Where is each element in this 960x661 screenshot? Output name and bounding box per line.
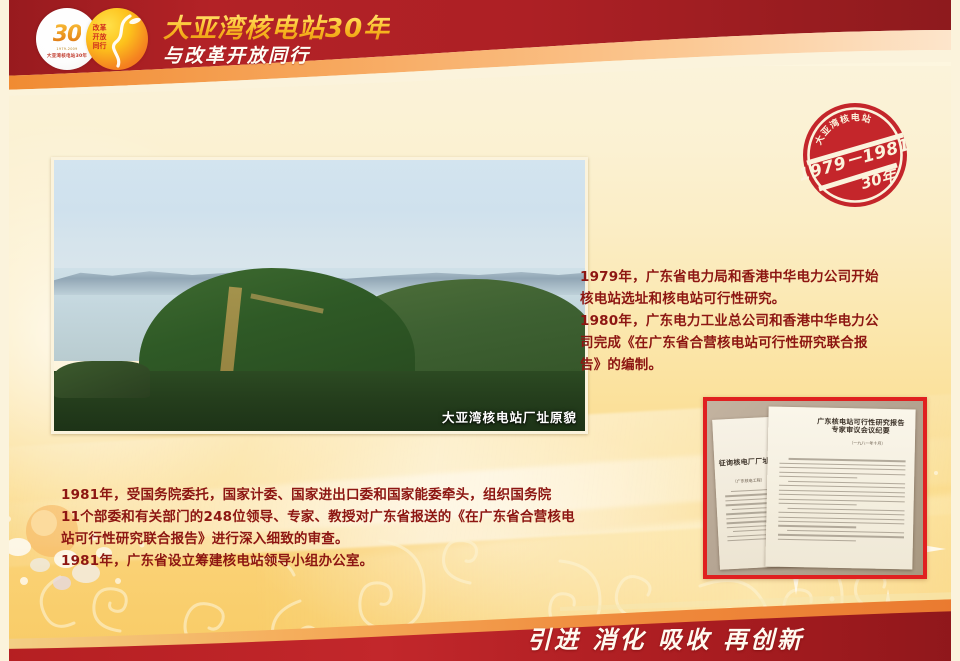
paragraph-1981: 1981年，受国务院委托，国家计委、国家进出口委和国家能委牵头，组织国务院 11… xyxy=(61,484,681,572)
logo-reform-text: 改革 开放 同行 xyxy=(92,24,107,51)
header-logos: 30 1979-2009 大亚湾核电站30年 改革 开放 同行 xyxy=(36,6,166,72)
anniversary-seal: 大亚湾核电站 1979－1981 30年 xyxy=(801,101,909,209)
footer-slogan: 引进 消化 吸收 再创新 xyxy=(527,620,804,655)
logo-reform-line-3: 同行 xyxy=(92,42,107,51)
document-sheet-front: 广东核电站可行性研究报告专家审议会议纪要 （一九八一年十月） xyxy=(766,406,916,569)
reform-opening-logo: 改革 开放 同行 xyxy=(86,8,148,70)
paragraph-line: 告》的编制。 xyxy=(580,354,946,376)
paragraph-line: 司完成《在广东省合营核电站可行性研究联合报 xyxy=(580,332,946,354)
page-title: 大亚湾核电站30年 xyxy=(163,8,390,45)
paragraph-line: 11个部委和有关部门的248位领导、专家、教授对广东省报送的《在广东省合营核电 xyxy=(61,506,681,528)
paragraph-line: 站可行性研究联合报告》进行深入细致的审查。 xyxy=(61,528,681,550)
paragraph-1979-1980: 1979年，广东省电力局和香港中华电力公司开始 核电站选址和核电站可行性研究。 … xyxy=(580,266,946,376)
paragraph-line: 核电站选址和核电站可行性研究。 xyxy=(580,288,946,310)
paragraph-line: 1979年，广东省电力局和香港中华电力公司开始 xyxy=(580,266,946,288)
paragraph-line: 1981年，受国务院委托，国家计委、国家进出口委和国家能委牵头，组织国务院 xyxy=(61,484,681,506)
logo-reform-line-1: 改革 xyxy=(92,24,107,33)
logo-year-range: 1979-2009 xyxy=(56,47,77,51)
document-photograph: 征询核电厂厂址 （广东核电工程） 广东核电站可行性研究报告专家审议会议纪要 （一… xyxy=(703,397,927,579)
logo-number-30: 30 xyxy=(53,24,82,46)
photo-coastal-rocks xyxy=(54,361,150,399)
page-subtitle: 与改革开放同行 xyxy=(163,41,310,68)
document-front-subtitle: （一九八一年十月） xyxy=(850,440,886,447)
footer-banner xyxy=(0,575,960,661)
poster-canvas: 大亚湾核电站厂址原貌 1979年，广东省电力局和香港中华电力公司开始 核电站选址… xyxy=(0,0,960,661)
logo-reform-line-2: 开放 xyxy=(92,33,107,42)
paragraph-line: 1980年，广东电力工业总公司和香港中华电力公 xyxy=(580,310,946,332)
site-photograph: 大亚湾核电站厂址原貌 xyxy=(51,157,588,434)
ribbon-swirl-icon xyxy=(108,12,144,70)
photo-caption: 大亚湾核电站厂址原貌 xyxy=(442,407,577,426)
document-front-text-lines xyxy=(778,458,906,561)
paragraph-line: 1981年，广东省设立筹建核电站领导小组办公室。 xyxy=(61,550,681,572)
document-back-subtitle: （广东核电工程） xyxy=(732,477,764,485)
document-front-title: 广东核电站可行性研究报告专家审议会议纪要 xyxy=(816,417,907,436)
logo-caption: 大亚湾核电站30年 xyxy=(47,53,87,59)
